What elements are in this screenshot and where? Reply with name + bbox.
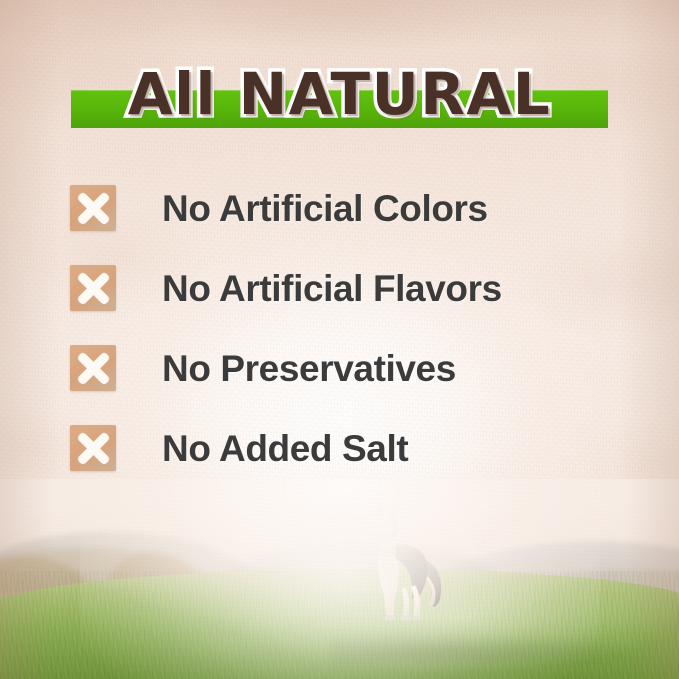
- claim-row: No Artificial Colors: [70, 168, 610, 248]
- dog-photo: [362, 503, 448, 631]
- lifestyle-photo: [0, 479, 679, 679]
- claim-label: No Preservatives: [162, 350, 456, 387]
- claims-list: No Artificial Colors No Artificial Flavo…: [70, 168, 610, 488]
- claim-label: No Added Salt: [162, 430, 408, 467]
- x-mark-icon: [70, 425, 116, 471]
- claim-row: No Artificial Flavors: [70, 248, 610, 328]
- ground-shadow: [330, 633, 630, 669]
- headline-banner: All NATURAL: [0, 56, 679, 134]
- claim-row: No Added Salt: [70, 408, 610, 488]
- claim-label: No Artificial Flavors: [162, 270, 502, 307]
- claim-row: No Preservatives: [70, 328, 610, 408]
- x-mark-icon: [70, 185, 116, 231]
- headline-title: All NATURAL: [128, 65, 551, 123]
- product-feature-graphic: All NATURAL No Artificial Colors No Arti…: [0, 0, 679, 679]
- x-mark-icon: [70, 265, 116, 311]
- claim-label: No Artificial Colors: [162, 190, 488, 227]
- x-mark-icon: [70, 345, 116, 391]
